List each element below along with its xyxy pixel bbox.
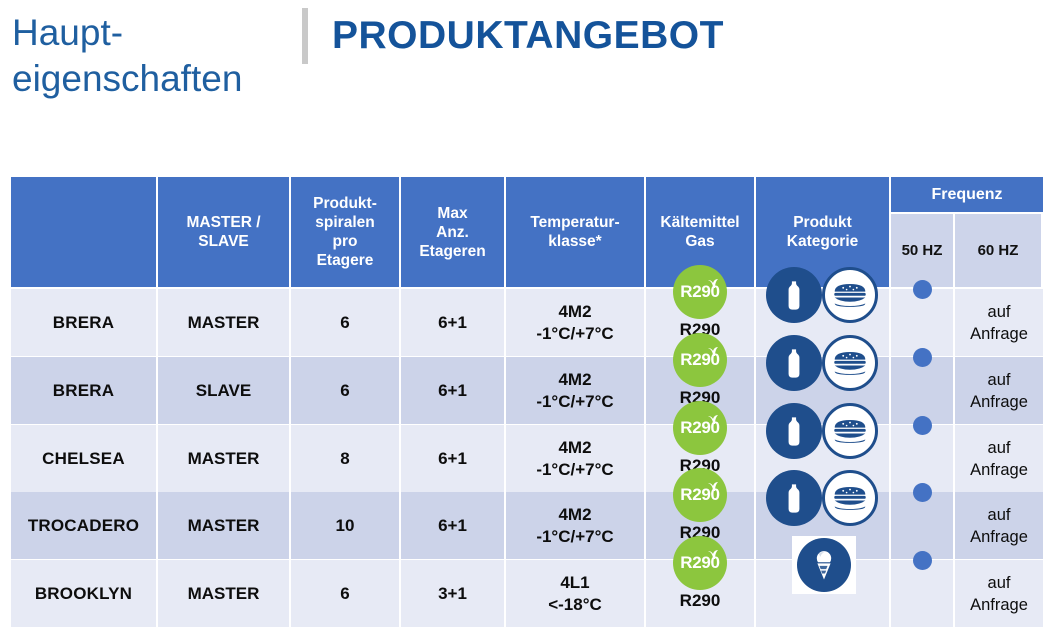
leaf-icon: [707, 274, 718, 285]
text-line: 4M2: [536, 504, 613, 526]
text-line: auf: [970, 437, 1028, 459]
cell-frequency-50hz: [891, 357, 953, 424]
r290-badge-icon: R290: [673, 536, 727, 590]
r290-badge-icon: R290: [673, 468, 727, 522]
column-header-model: [11, 177, 156, 287]
frequency-50hz-dot-icon: [913, 280, 932, 299]
text-line: Produkt-: [313, 194, 377, 213]
bottle-icon: [766, 335, 822, 391]
column-header-master: MASTER /SLAVE: [158, 177, 289, 287]
cell-model: CHELSEA: [11, 425, 156, 492]
cell-frequency-50hz: [891, 560, 953, 627]
burger-icon: [822, 470, 878, 526]
text-line: 50 HZ: [902, 242, 943, 259]
text-line: 3+1: [438, 583, 467, 605]
text-line: SLAVE: [196, 380, 251, 402]
cell-frequency-60hz: aufAnfrage: [955, 289, 1043, 356]
text-line: Etageren: [419, 242, 485, 261]
cell-temp-class: 4M2-1°C/+7°C: [506, 425, 644, 492]
text-line: 6+1: [438, 515, 467, 537]
text-line: CHELSEA: [42, 448, 125, 470]
text-line: pro: [313, 232, 377, 251]
page-title: PRODUKTANGEBOT: [332, 14, 724, 58]
cell-frequency-50hz: [891, 492, 953, 559]
text-line: spiralen: [313, 213, 377, 232]
cell-spirals: 10: [291, 492, 399, 559]
text-line: 4M2: [536, 369, 613, 391]
cell-max-trays: 6+1: [401, 289, 504, 356]
icecream-icon: [792, 536, 856, 594]
r290-badge-icon: R290: [673, 265, 727, 319]
leaf-icon: [707, 410, 718, 421]
text-line: TROCADERO: [28, 515, 139, 537]
text-line: 6: [340, 380, 349, 402]
text-line: auf: [970, 369, 1028, 391]
page-subtitle: Haupt- eigenschaften: [12, 10, 292, 102]
cell-max-trays: 6+1: [401, 425, 504, 492]
text-line: SLAVE: [186, 232, 260, 251]
page-subtitle-line2: eigenschaften: [12, 56, 292, 102]
text-line: -1°C/+7°C: [536, 323, 613, 345]
text-line: auf: [970, 504, 1028, 526]
header-divider: [302, 8, 308, 64]
cell-spirals: 8: [291, 425, 399, 492]
text-line: BRERA: [53, 380, 114, 402]
text-line: Anfrage: [970, 459, 1028, 481]
column-header-60hz: 60 HZ: [955, 214, 1041, 287]
text-line: 4M2: [536, 437, 613, 459]
cell-temp-class: 4L1<-18°C: [506, 560, 644, 627]
slide-header: Haupt- eigenschaften PRODUKTANGEBOT: [0, 0, 1053, 160]
text-line: Etagere: [313, 251, 377, 270]
text-line: 8: [340, 448, 349, 470]
cell-master-slave: SLAVE: [158, 357, 289, 424]
text-line: Anfrage: [970, 594, 1028, 616]
text-line: Temperatur-: [530, 213, 619, 232]
frequency-50hz-dot-icon: [913, 348, 932, 367]
leaf-icon: [707, 545, 718, 556]
text-line: Anfrage: [970, 323, 1028, 345]
text-line: -1°C/+7°C: [536, 391, 613, 413]
text-line: 6+1: [438, 312, 467, 334]
cell-model: BRERA: [11, 357, 156, 424]
leaf-icon: [707, 477, 718, 488]
cell-spirals: 6: [291, 560, 399, 627]
r290-badge-icon: R290: [673, 333, 727, 387]
text-line: MASTER: [188, 515, 260, 537]
text-line: Gas: [660, 232, 739, 251]
text-line: 4L1: [548, 572, 602, 594]
cell-frequency-60hz: aufAnfrage: [955, 425, 1043, 492]
text-line: MASTER /: [186, 213, 260, 232]
product-table: MASTER /SLAVEProdukt-spiralenproEtagereM…: [11, 177, 1043, 637]
cell-frequency-50hz: [891, 425, 953, 492]
page-subtitle-line1: Haupt-: [12, 10, 292, 56]
column-header-temp_class: Temperatur-klasse*: [506, 177, 644, 287]
cell-model: TROCADERO: [11, 492, 156, 559]
column-header-max_trays: MaxAnz.Etageren: [401, 177, 504, 287]
text-line: 10: [336, 515, 355, 537]
text-line: Produkt: [787, 213, 859, 232]
cell-max-trays: 6+1: [401, 492, 504, 559]
text-line: MASTER: [188, 448, 260, 470]
text-line: Anfrage: [970, 391, 1028, 413]
text-line: Kategorie: [787, 232, 859, 251]
cell-spirals: 6: [291, 289, 399, 356]
leaf-icon: [707, 342, 718, 353]
text-line: -1°C/+7°C: [536, 526, 613, 548]
cell-master-slave: MASTER: [158, 425, 289, 492]
column-header-spirals: Produkt-spiralenproEtagere: [291, 177, 399, 287]
text-line: Frequenz: [931, 186, 1002, 204]
cell-master-slave: MASTER: [158, 560, 289, 627]
cell-master-slave: MASTER: [158, 289, 289, 356]
text-line: 6+1: [438, 380, 467, 402]
text-line: <-18°C: [548, 594, 602, 616]
refrigerant-label: R290: [680, 590, 721, 612]
text-line: auf: [970, 301, 1028, 323]
text-line: Anfrage: [970, 526, 1028, 548]
text-line: klasse*: [530, 232, 619, 251]
cell-master-slave: MASTER: [158, 492, 289, 559]
cell-max-trays: 3+1: [401, 560, 504, 627]
frequency-50hz-dot-icon: [913, 483, 932, 502]
text-line: 6: [340, 312, 349, 334]
cell-frequency-50hz: [891, 289, 953, 356]
burger-icon: [822, 267, 878, 323]
text-line: Anz.: [419, 223, 485, 242]
cell-frequency-60hz: aufAnfrage: [955, 357, 1043, 424]
text-line: MASTER: [188, 583, 260, 605]
burger-icon: [822, 335, 878, 391]
cell-frequency-60hz: aufAnfrage: [955, 560, 1043, 627]
text-line: Kältemittel: [660, 213, 739, 232]
cell-spirals: 6: [291, 357, 399, 424]
cell-model: BROOKLYN: [11, 560, 156, 627]
text-line: 4M2: [536, 301, 613, 323]
column-header-50hz: 50 HZ: [891, 214, 953, 287]
text-line: auf: [970, 572, 1028, 594]
bottle-icon: [766, 267, 822, 323]
text-line: BRERA: [53, 312, 114, 334]
column-header-frequenz-group: Frequenz: [891, 177, 1043, 212]
text-line: 6+1: [438, 448, 467, 470]
burger-icon: [822, 403, 878, 459]
cell-frequency-60hz: aufAnfrage: [955, 492, 1043, 559]
bottle-icon: [766, 403, 822, 459]
frequency-50hz-dot-icon: [913, 551, 932, 570]
text-line: -1°C/+7°C: [536, 459, 613, 481]
bottle-icon: [766, 470, 822, 526]
slide-root: Haupt- eigenschaften PRODUKTANGEBOT MAST…: [0, 0, 1053, 641]
cell-max-trays: 6+1: [401, 357, 504, 424]
frequency-50hz-dot-icon: [913, 416, 932, 435]
text-line: 60 HZ: [978, 242, 1019, 259]
text-line: Max: [419, 204, 485, 223]
cell-temp-class: 4M2-1°C/+7°C: [506, 289, 644, 356]
cell-temp-class: 4M2-1°C/+7°C: [506, 492, 644, 559]
cell-temp-class: 4M2-1°C/+7°C: [506, 357, 644, 424]
text-line: 6: [340, 583, 349, 605]
text-line: BROOKLYN: [35, 583, 132, 605]
r290-badge-icon: R290: [673, 401, 727, 455]
cell-model: BRERA: [11, 289, 156, 356]
text-line: MASTER: [188, 312, 260, 334]
